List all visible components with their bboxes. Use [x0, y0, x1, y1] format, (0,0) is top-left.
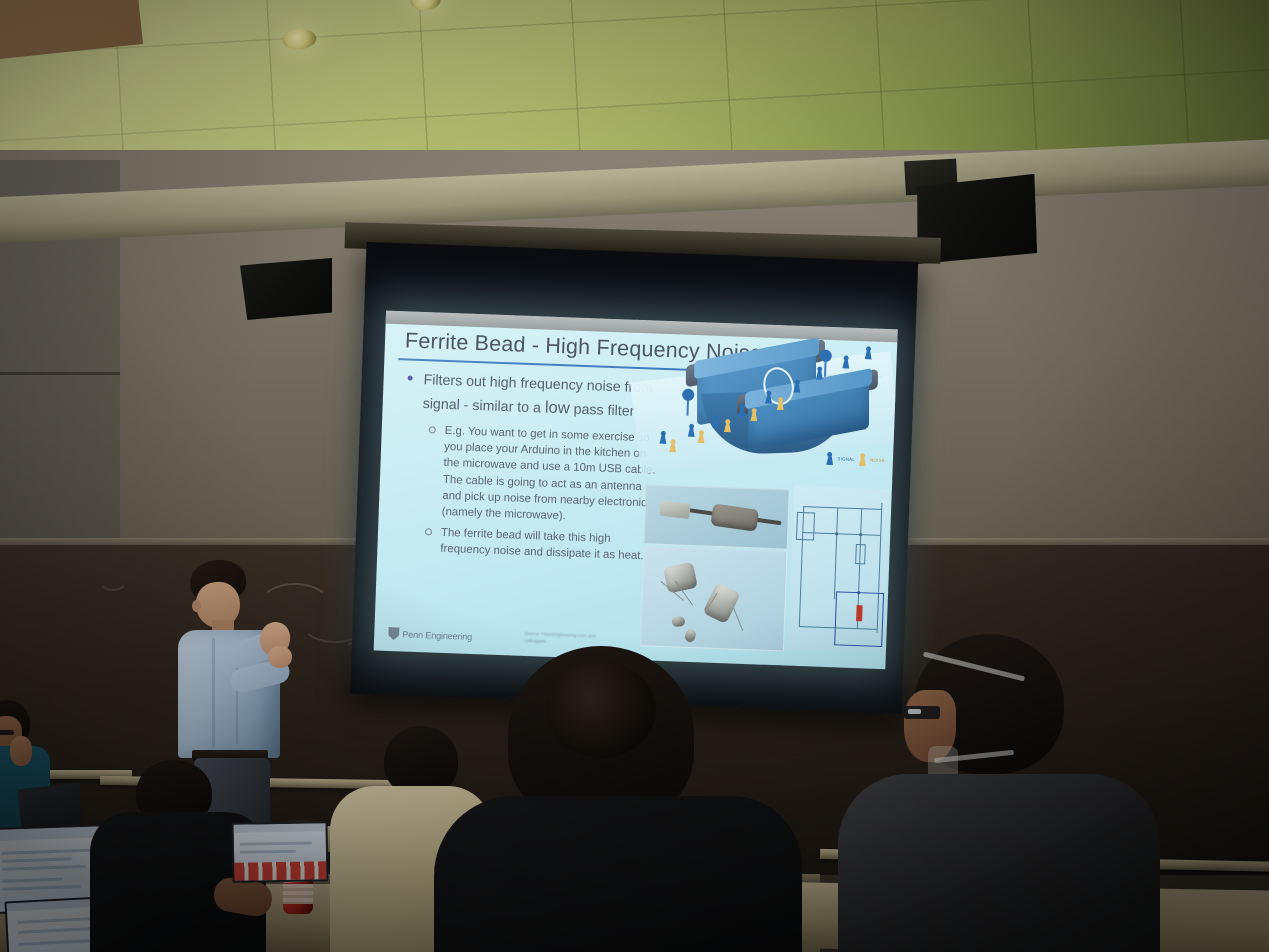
student-hand	[10, 736, 32, 766]
signal-marker-icon	[816, 366, 823, 379]
noise-marker-icon	[750, 408, 757, 421]
penn-shield-icon	[388, 627, 399, 640]
penn-engineering-logo: Penn Engineering	[388, 627, 472, 643]
usb-plug	[659, 501, 691, 520]
bead-lead-wire	[733, 608, 743, 631]
laptop-content-row	[3, 885, 81, 891]
ferrite-bead-small	[684, 628, 697, 643]
ferrite-bead-small	[671, 616, 685, 627]
slide-sub-bullets: E.g. You want to get in some exercise so…	[423, 422, 660, 570]
laptop-right	[231, 821, 328, 883]
bullet-dot-icon	[408, 375, 413, 380]
sub-bullet-ring-icon	[425, 528, 432, 535]
noise-marker-icon	[777, 397, 784, 410]
laptop-content-row	[1, 849, 93, 855]
signal-marker-icon	[842, 355, 849, 368]
wall-speaker-left	[240, 258, 332, 320]
glasses-glint	[908, 709, 921, 714]
penn-logo-text: Penn Engineering	[402, 629, 472, 642]
schematic-node	[859, 533, 862, 536]
shirt-fold	[212, 638, 215, 748]
schematic-ic-block	[796, 512, 815, 541]
schematic-wire	[834, 507, 838, 599]
chalk-mark	[98, 567, 128, 591]
laptop-red-banner	[234, 861, 326, 881]
student-masked-glasses	[838, 634, 1168, 952]
ferrite-core-cutaway-illustration: SIGNAL NOISE	[639, 334, 894, 473]
usb-cable-ferrite-choke-photo	[644, 484, 790, 549]
legend-signal-label: SIGNAL	[837, 456, 855, 462]
signal-marker-icon	[688, 424, 695, 437]
slide-sub-bullet-text: The ferrite bead will take this high fre…	[440, 527, 644, 563]
student-body	[434, 796, 802, 952]
presenter-ear	[192, 600, 201, 612]
slide-main-bullet: Filters out high frequency noise from si…	[406, 369, 660, 424]
lecture-hall-photo: Ferrite Bead - High Frequency Noise Filt…	[0, 0, 1269, 952]
ferrite-bead-components-photo	[640, 546, 788, 651]
slide-main-bullet-text: Filters out high frequency noise from si…	[422, 370, 660, 424]
schematic-node	[835, 532, 838, 535]
laptop-content-row	[240, 850, 296, 854]
presenter-hand-lower	[268, 646, 292, 668]
ferrite-bead-symbol	[856, 605, 863, 621]
signal-marker-icon	[865, 346, 872, 359]
legend-signal-icon	[826, 452, 833, 465]
laptop-content-row	[2, 857, 72, 862]
noise-marker-icon	[669, 439, 676, 452]
signal-marker-icon	[738, 404, 745, 417]
sub-bullet-ring-icon	[429, 426, 436, 433]
signal-marker-icon	[712, 415, 719, 428]
illustration-legend: SIGNAL NOISE	[826, 452, 885, 467]
ferrite-choke-body	[710, 503, 759, 531]
student-hair-bun	[546, 662, 656, 758]
circuit-schematic-with-highlight	[788, 486, 890, 653]
signal-marker-icon	[793, 380, 800, 393]
student-center-foreground	[438, 646, 798, 952]
laptop-content-row	[2, 865, 86, 871]
signal-marker-icon	[765, 391, 772, 404]
laptop-content-row	[2, 878, 62, 883]
wall-seam	[0, 372, 120, 375]
legend-noise-icon	[859, 453, 866, 466]
slide-sub-bullet: E.g. You want to get in some exercise so…	[424, 422, 659, 528]
noise-marker-icon	[724, 419, 731, 432]
slide-sub-bullet-text: E.g. You want to get in some exercise so…	[442, 425, 656, 522]
bottle-label	[283, 884, 313, 904]
laptop-window-chrome	[234, 823, 326, 832]
student-glasses	[0, 730, 14, 735]
schematic-component	[855, 544, 866, 564]
noise-marker-icon	[697, 430, 704, 443]
projected-slide: Ferrite Bead - High Frequency Noise Filt…	[374, 311, 898, 670]
schematic-wire	[803, 506, 881, 510]
legend-noise-label: NOISE	[870, 457, 885, 463]
slide-sub-bullet: The ferrite bead will take this high fre…	[423, 524, 656, 565]
slide-source-note: Source: PennEngineering.com and colleagu…	[524, 630, 618, 648]
signal-marker-icon	[659, 431, 666, 444]
ferrite-bead-large	[702, 582, 740, 624]
laptop-content-row	[240, 841, 312, 845]
student-body	[838, 774, 1160, 952]
